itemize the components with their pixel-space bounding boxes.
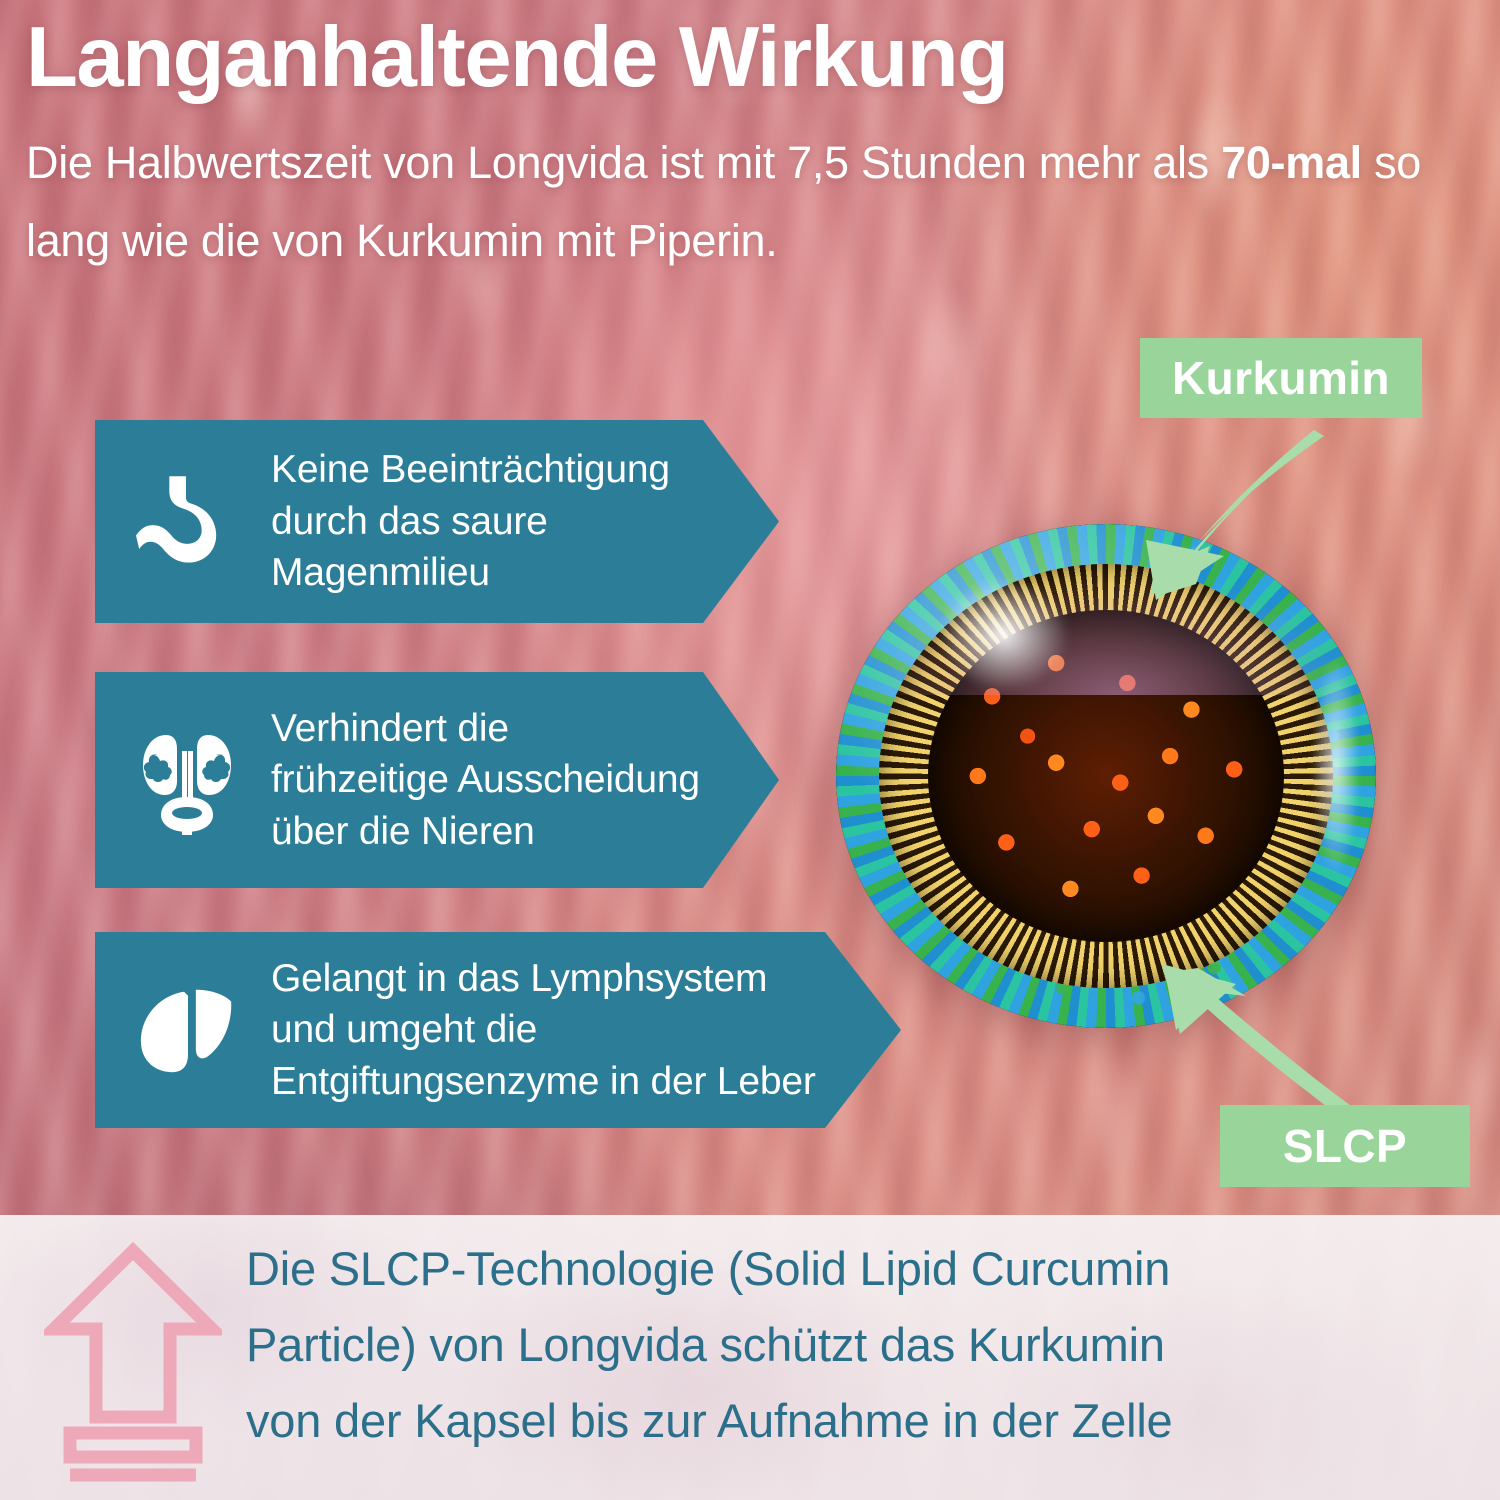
header: Langanhaltende Wirkung Die Halbwertszeit… bbox=[26, 14, 1476, 279]
label-kurkumin: Kurkumin bbox=[1140, 338, 1422, 418]
callout-kidneys-text: Verhindert die frühzeitige Ausscheidung … bbox=[271, 703, 700, 857]
specular-highlight-edge bbox=[1311, 655, 1360, 877]
specular-highlight bbox=[933, 574, 1073, 695]
subtitle-part-1: Die Halbwertszeit von Longvida ist mit 7… bbox=[26, 137, 1221, 188]
callout-stomach-text: Keine Beeinträchtigung durch das saure M… bbox=[271, 444, 670, 598]
page-subtitle: Die Halbwertszeit von Longvida ist mit 7… bbox=[26, 124, 1476, 279]
label-slcp-text: SLCP bbox=[1283, 1119, 1407, 1173]
footer-text: Die SLCP-Technologie (Solid Lipid Curcum… bbox=[246, 1231, 1476, 1459]
liver-icon bbox=[129, 972, 245, 1088]
infographic-root: Langanhaltende Wirkung Die Halbwertszeit… bbox=[0, 0, 1500, 1500]
page-title: Langanhaltende Wirkung bbox=[26, 14, 1476, 102]
subtitle-highlight: 70-mal bbox=[1221, 137, 1362, 188]
label-slcp: SLCP bbox=[1220, 1105, 1470, 1187]
label-kurkumin-text: Kurkumin bbox=[1172, 351, 1390, 405]
callout-liver-text: Gelangt in das Lymphsystem und umgeht di… bbox=[271, 953, 816, 1107]
callout-liver: Gelangt in das Lymphsystem und umgeht di… bbox=[95, 932, 825, 1128]
upward-absorption-arrow-icon bbox=[44, 1237, 222, 1487]
stomach-icon bbox=[129, 464, 245, 580]
kidneys-bladder-icon bbox=[129, 722, 245, 838]
callout-stomach: Keine Beeinträchtigung durch das saure M… bbox=[95, 420, 703, 623]
callout-kidneys: Verhindert die frühzeitige Ausscheidung … bbox=[95, 672, 703, 888]
footer-band: Die SLCP-Technologie (Solid Lipid Curcum… bbox=[0, 1215, 1500, 1500]
kurkumin-pointer-arrow-icon bbox=[1128, 428, 1368, 608]
